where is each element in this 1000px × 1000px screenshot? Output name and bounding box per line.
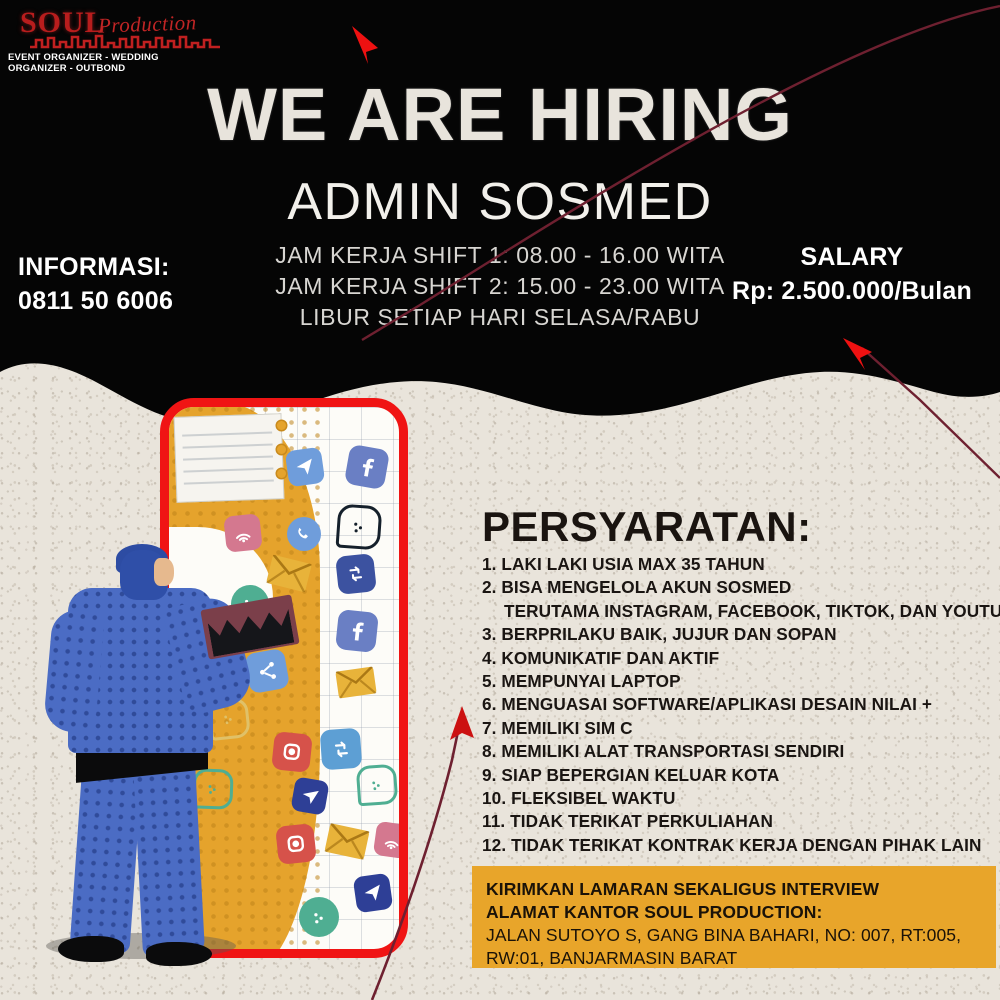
requirement-item: 2. BISA MENGELOLA AKUN SOSMED (482, 576, 997, 599)
salary-value: Rp: 2.500.000/Bulan (712, 274, 992, 308)
application-address-box: KIRIMKAN LAMARAN SEKALIGUS INTERVIEW ALA… (472, 866, 996, 968)
requirements-list: 1. LAKI LAKI USIA MAX 35 TAHUN2. BISA ME… (482, 553, 997, 857)
logo-tagline: EVENT ORGANIZER - WEDDING ORGANIZER - OU… (8, 52, 216, 74)
person-shoe-right (146, 942, 212, 966)
telegram-icon (290, 776, 329, 815)
person-illustration (42, 528, 252, 976)
info-phone-number[interactable]: 0811 50 6006 (18, 284, 173, 318)
requirement-item: 9. SIAP BEPERGIAN KELUAR KOTA (482, 764, 997, 787)
brand-logo: SOUL Production EVENT ORGANIZER - WEDDIN… (6, 4, 216, 68)
mail-icon (335, 666, 376, 698)
arrow-top-left-head (352, 26, 378, 64)
job-position-title: ADMIN SOSMED (0, 176, 1000, 228)
requirement-item: 8. MEMILIKI ALAT TRANSPORTASI SENDIRI (482, 740, 997, 763)
requirement-item: 3. BERPRILAKU BAIK, JUJUR DAN SOPAN (482, 623, 997, 646)
person-leg-right (133, 759, 205, 958)
salary-block: SALARY Rp: 2.500.000/Bulan (712, 240, 992, 308)
person-leg-left (69, 760, 142, 954)
contact-info-block: INFORMASI: 0811 50 6006 (18, 250, 173, 318)
person-shoe-left (58, 936, 124, 962)
requirement-item: 1. LAKI LAKI USIA MAX 35 TAHUN (482, 553, 997, 576)
address-line: RW:01, BANJARMASIN BARAT (486, 947, 982, 970)
requirement-item: 12. TIDAK TERIKAT KONTRAK KERJA DENGAN P… (482, 834, 997, 857)
poster-canvas: SOUL Production EVENT ORGANIZER - WEDDIN… (0, 0, 1000, 1000)
phone-icon (287, 517, 321, 551)
person-face (154, 558, 174, 586)
telegram-icon (285, 447, 326, 488)
requirement-item: 11. TIDAK TERIKAT PERKULIAHAN (482, 810, 997, 833)
requirement-item: 5. MEMPUNYAI LAPTOP (482, 670, 997, 693)
comment-icon (356, 764, 399, 807)
address-line: JALAN SUTOYO S, GANG BINA BAHARI, NO: 00… (486, 924, 982, 947)
requirement-item: 6. MENGUASAI SOFTWARE/APLIKASI DESAIN NI… (482, 693, 997, 716)
instagram-icon (271, 731, 313, 773)
arrow-right-edge-head (843, 338, 872, 370)
info-label: INFORMASI: (18, 250, 173, 284)
requirement-item: 4. KOMUNIKATIF DAN AKTIF (482, 647, 997, 670)
logo-squiggle-icon (28, 34, 228, 50)
requirements-heading: PERSYARATAN: (482, 503, 812, 551)
retweet-icon (320, 728, 363, 771)
telegram-icon (353, 873, 394, 914)
notepad-icon (174, 413, 285, 503)
wifi-icon (373, 821, 408, 859)
chat-icon (299, 897, 339, 937)
page-title: WE ARE HIRING (0, 78, 1000, 152)
facebook-icon (335, 609, 379, 653)
retweet-icon (335, 553, 377, 595)
comment-icon (336, 504, 383, 551)
requirement-item: 10. FLEKSIBEL WAKTU (482, 787, 997, 810)
person-arm-left (43, 608, 105, 734)
facebook-icon (344, 444, 390, 490)
requirement-item: 7. MEMILIKI SIM C (482, 717, 997, 740)
salary-label: SALARY (712, 240, 992, 274)
address-line: KIRIMKAN LAMARAN SEKALIGUS INTERVIEW (486, 878, 982, 901)
requirement-item-continuation: TERUTAMA INSTAGRAM, FACEBOOK, TIKTOK, DA… (482, 600, 997, 623)
arrow-bottom-up-head (450, 706, 474, 740)
instagram-icon (275, 823, 317, 865)
address-line: ALAMAT KANTOR SOUL PRODUCTION: (486, 901, 982, 924)
